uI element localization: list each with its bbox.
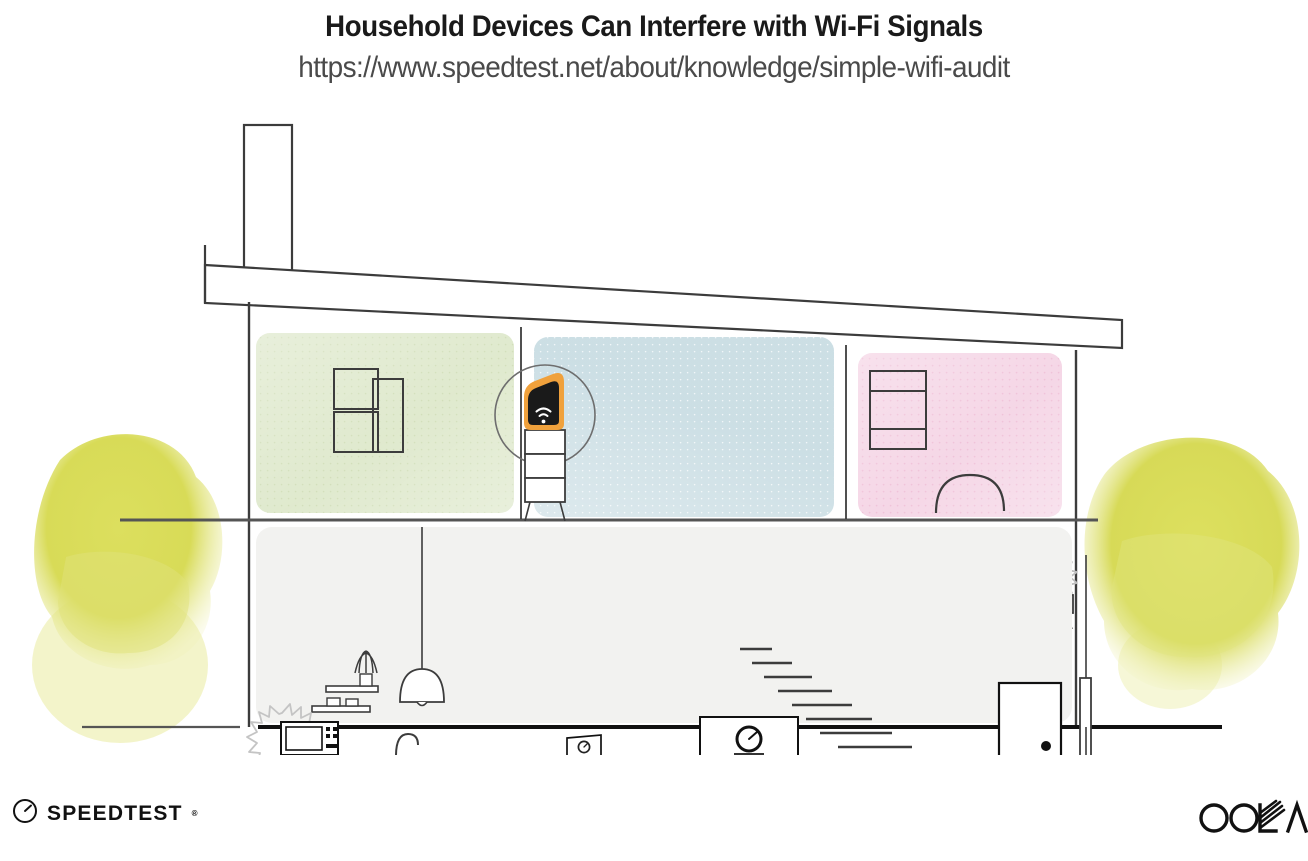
wifi-router-icon[interactable]: [524, 373, 564, 430]
ookla-wordmark: [1201, 805, 1257, 831]
house-illustration: [0, 105, 1308, 755]
ookla-logo[interactable]: [1196, 796, 1308, 845]
ookla-chevron-icon: [1260, 801, 1284, 828]
footer: SPEEDTEST ®: [0, 790, 1308, 850]
door-knob: [1041, 741, 1051, 751]
speedtest-gauge-icon: [12, 798, 38, 829]
source-url: https://www.speedtest.net/about/knowledg…: [46, 51, 1262, 85]
tree-bush-right: [1085, 438, 1300, 709]
speedtest-wordmark: SPEEDTEST: [47, 802, 183, 826]
roof-slab: [205, 245, 1122, 348]
speedtest-logo[interactable]: SPEEDTEST ®: [12, 798, 198, 829]
header: Household Devices Can Interfere with Wi-…: [0, 0, 1308, 85]
room-living-kitchen: [247, 527, 1091, 755]
laptop-speedtest[interactable]: [558, 735, 612, 755]
kitchen-sink-faucet: [396, 734, 418, 755]
page-title: Household Devices Can Interfere with Wi-…: [52, 10, 1255, 44]
front-door[interactable]: [999, 683, 1061, 755]
tree-bush-left: [32, 434, 222, 743]
chimney: [244, 125, 292, 277]
microwave[interactable]: [281, 722, 338, 755]
infographic-page: Household Devices Can Interfere with Wi-…: [0, 0, 1308, 861]
registered-mark: ®: [192, 809, 198, 818]
tv-speedtest[interactable]: [700, 717, 798, 755]
